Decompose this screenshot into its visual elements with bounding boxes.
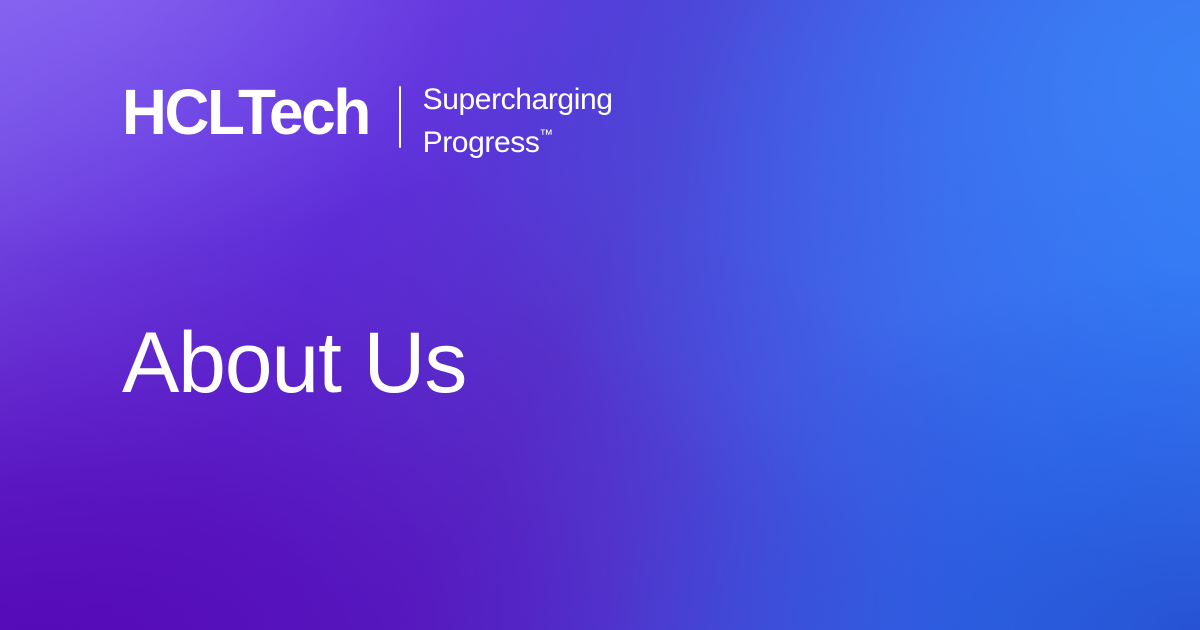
hcltech-logo[interactable]: HCLTech Supercharging Progress™ (122, 78, 613, 160)
about-us-banner: HCLTech Supercharging Progress™ About Us (0, 0, 1200, 630)
logo-wordmark: HCLTech (122, 78, 369, 146)
logo-tagline-line-1: Supercharging (423, 82, 613, 117)
logo-tagline-line-2: Progress™ (423, 117, 613, 160)
logo-tagline: Supercharging Progress™ (423, 82, 613, 160)
logo-tagline-word-progress: Progress (423, 126, 540, 159)
logo-divider-icon (399, 86, 401, 148)
page-title: About Us (122, 315, 466, 411)
banner-content: HCLTech Supercharging Progress™ About Us (0, 0, 1200, 630)
trademark-icon: ™ (539, 127, 553, 142)
